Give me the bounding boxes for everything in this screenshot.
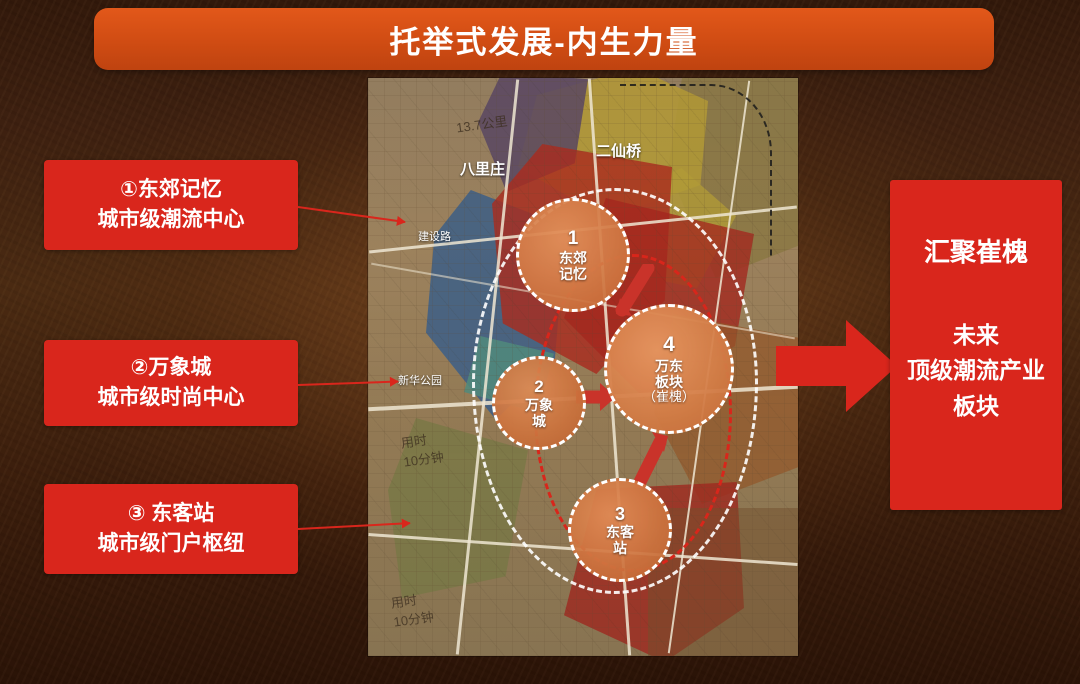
map-node-3-number: 3 [615, 504, 625, 524]
callout-1-line1: ①东郊记忆 [120, 175, 222, 205]
callout-3-line2: 城市级门户枢纽 [98, 529, 245, 559]
map-node-4-number: 4 [663, 333, 675, 356]
title-banner: 托举式发展-内生力量 [94, 8, 994, 70]
map-node-mixc[interactable]: 2 万象 城 [492, 356, 586, 450]
map-annotation-time-2: 用时 10分钟 [390, 587, 435, 630]
map-label-xinhua-park: 新华公园 [398, 372, 442, 388]
right-panel-title: 汇聚崔槐 [924, 236, 1028, 270]
callout-box-2[interactable]: ②万象城 城市级时尚中心 [44, 340, 298, 426]
map-label-jianshe-road: 建设路 [418, 228, 451, 244]
page-title: 托举式发展-内生力量 [389, 17, 698, 62]
right-summary-panel: 汇聚崔槐 未来 顶级潮流产业 板块 [890, 180, 1062, 510]
right-panel-line2: 顶级潮流产业 [907, 353, 1045, 389]
callout-2-line2: 城市级时尚中心 [98, 383, 245, 413]
map-node-4-sub: （崔槐） [643, 390, 695, 405]
map-node-1-number: 1 [568, 228, 579, 249]
right-panel-line1: 未来 [907, 318, 1045, 354]
map-node-2-name: 万象 城 [525, 397, 553, 429]
map-annotation-time-1: 用时 10分钟 [400, 427, 445, 470]
map-label-balizhuang: 八里庄 [460, 158, 505, 179]
callout-1-line2: 城市级潮流中心 [98, 205, 245, 235]
map-node-4-name: 万东 板块 [643, 358, 695, 390]
callout-box-3[interactable]: ③ 东客站 城市级门户枢纽 [44, 484, 298, 574]
callout-box-1[interactable]: ①东郊记忆 城市级潮流中心 [44, 160, 298, 250]
map-node-1-name: 东郊 记忆 [559, 250, 587, 282]
map-node-wandong-plate[interactable]: 4 万东 板块 （崔槐） [604, 304, 734, 434]
map-node-dongjiao-jiyi[interactable]: 1 东郊 记忆 [516, 198, 630, 312]
callout-2-line1: ②万象城 [131, 353, 212, 383]
map-node-3-name: 东客 站 [606, 524, 634, 556]
right-panel-line3: 板块 [907, 389, 1045, 425]
callout-3-line1: ③ 东客站 [128, 499, 215, 529]
map-figure: 八里庄 二仙桥 新华公园 建设路 13.7公里 用时 10分钟 用时 10分钟 … [368, 78, 798, 656]
map-label-erxianqiao: 二仙桥 [596, 140, 641, 161]
map-node-dongkezhan[interactable]: 3 东客 站 [568, 478, 672, 582]
map-node-2-number: 2 [534, 377, 543, 396]
big-right-arrow-icon [776, 318, 898, 414]
